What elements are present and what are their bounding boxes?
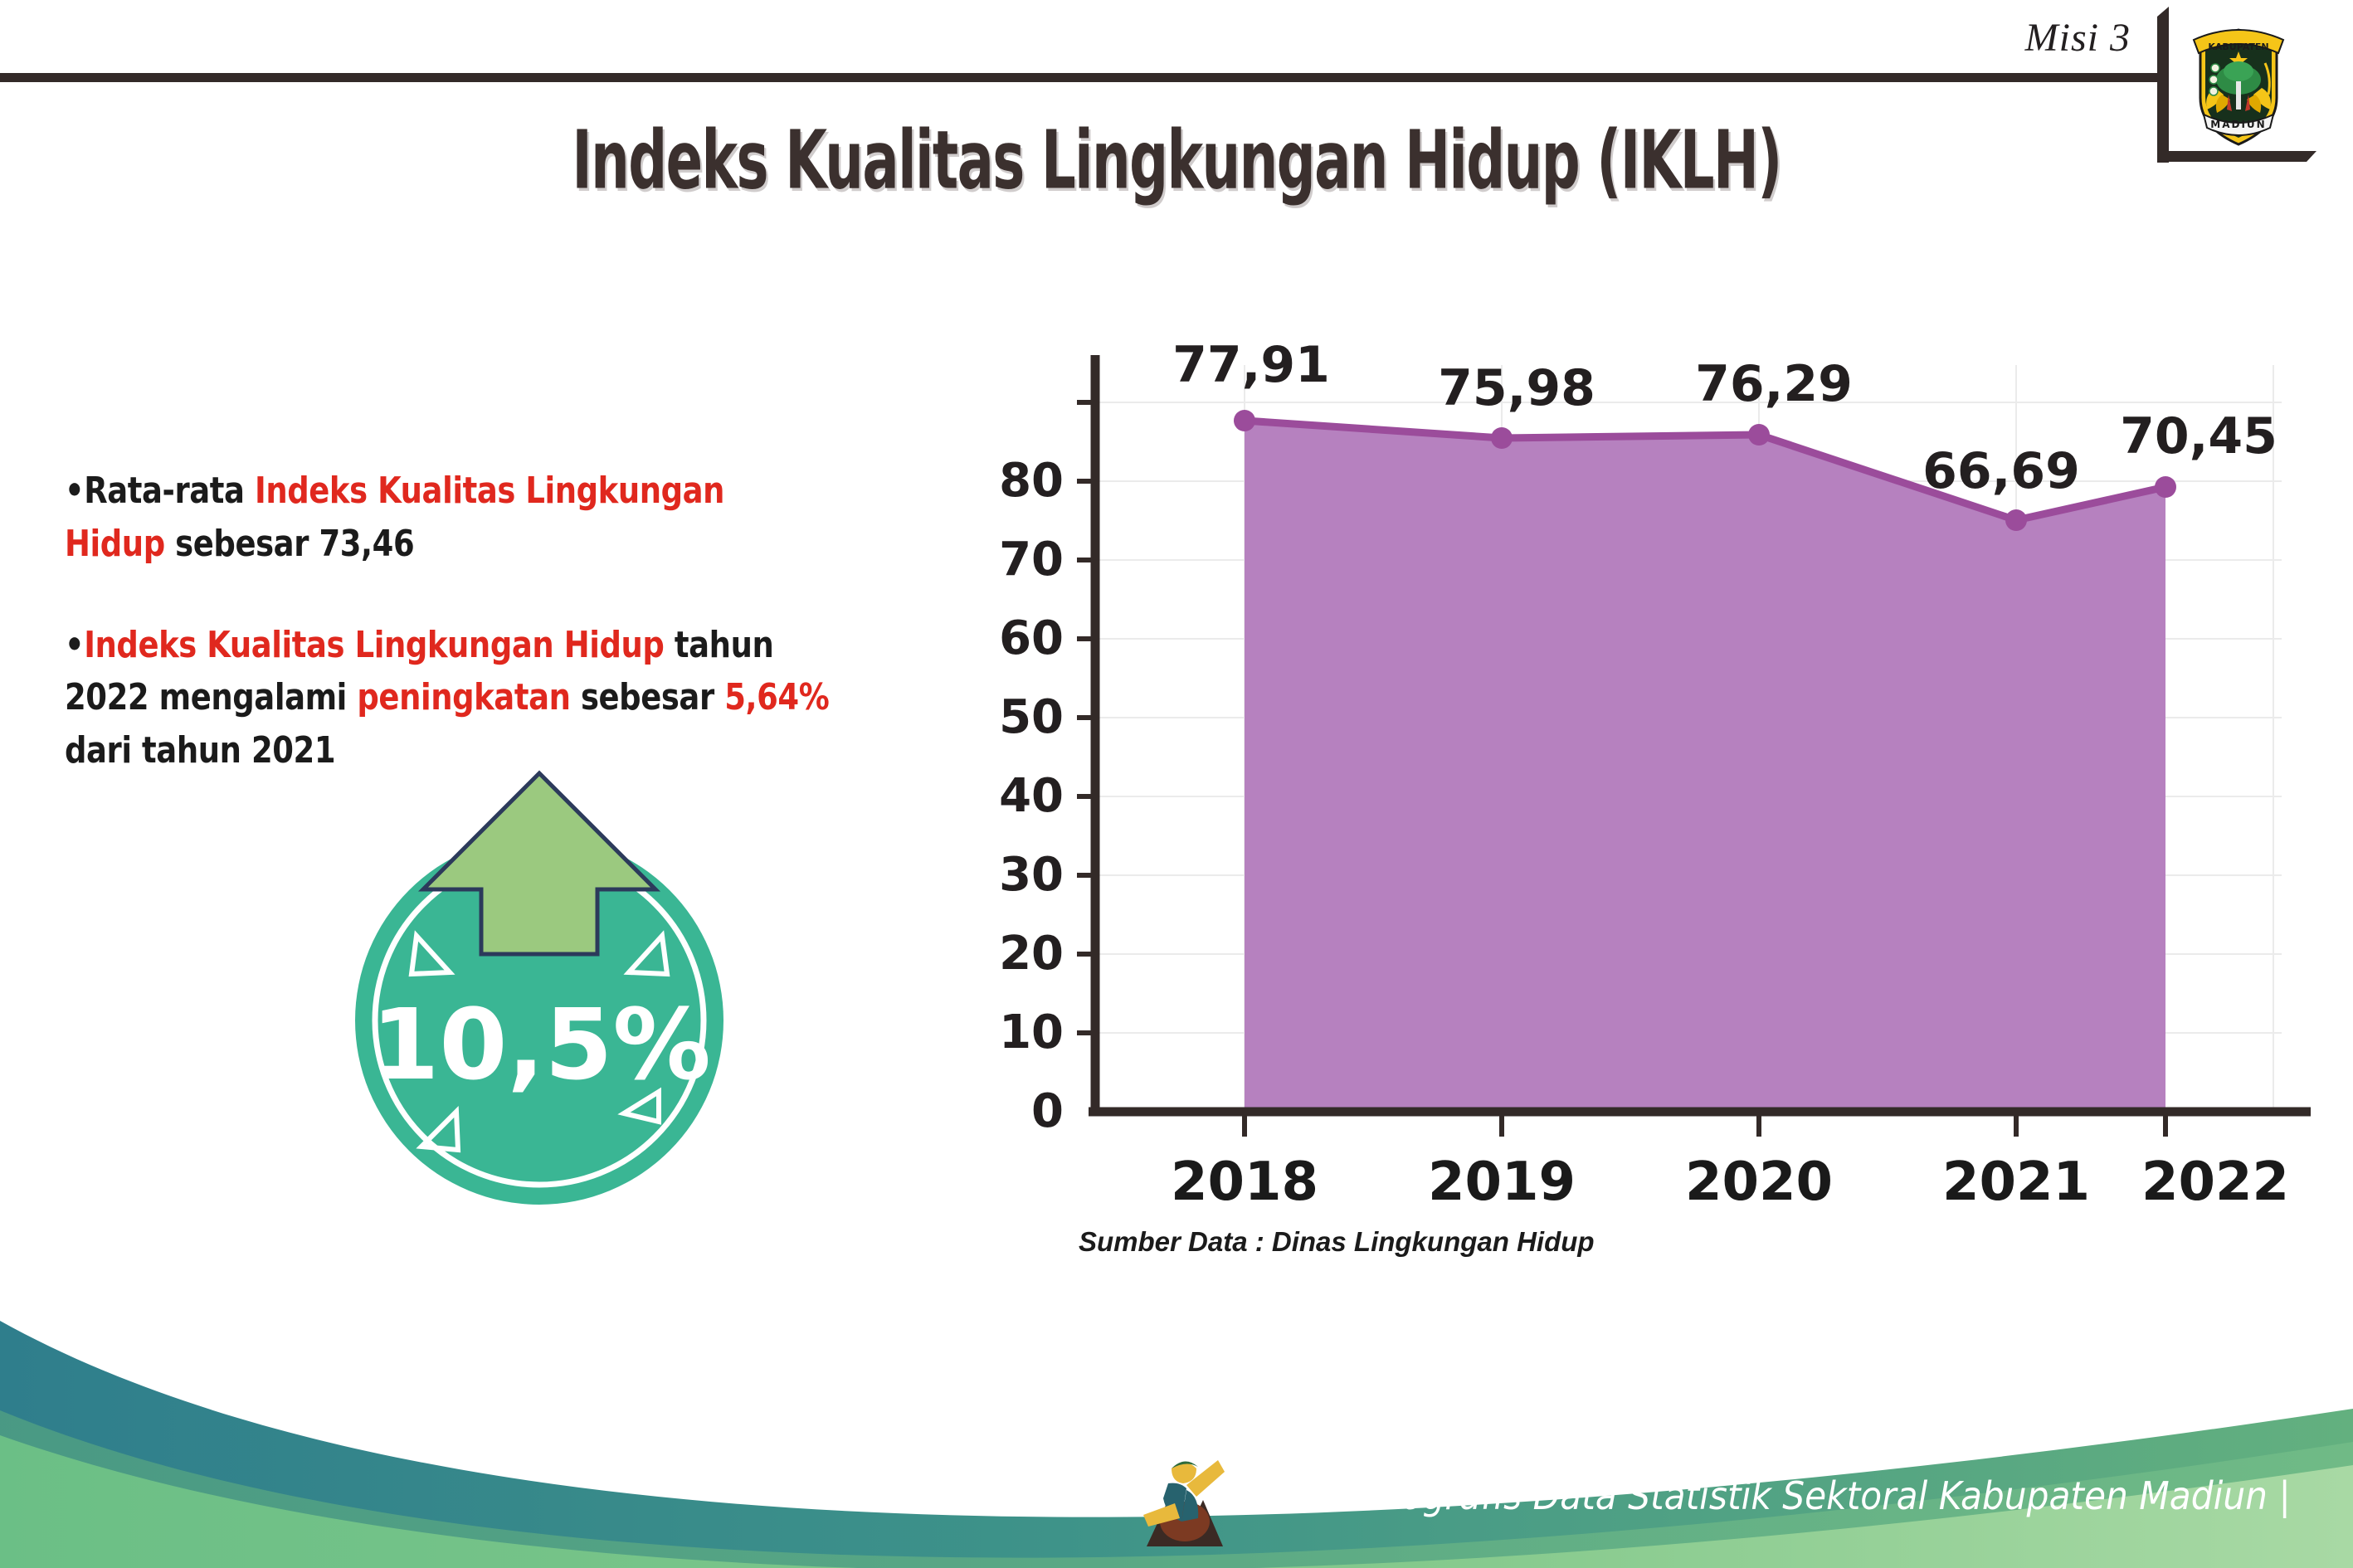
svg-text:2019: 2019: [1428, 1152, 1576, 1211]
source-note: Sumber Data : Dinas Lingkungan Hidup: [1079, 1226, 1595, 1258]
header-bracket-bottom: [2157, 151, 2307, 162]
kabupaten-madiun-emblem-icon: KABUPATEN MADIUN: [2185, 12, 2292, 151]
infographic-slide: Misi 3 KABUPATEN: [0, 0, 2353, 1568]
svg-text:60: 60: [999, 611, 1064, 665]
svg-text:2018: 2018: [1171, 1152, 1318, 1211]
emblem-bottom-label: MADIUN: [2210, 119, 2266, 130]
list-item: •Rata-rata Indeks Kualitas Lingkungan Hi…: [65, 465, 831, 571]
svg-text:40: 40: [999, 769, 1064, 823]
svg-text:77,91: 77,91: [1172, 336, 1330, 394]
svg-text:2022: 2022: [2141, 1152, 2289, 1211]
svg-text:20: 20: [999, 927, 1064, 981]
header-rule: [0, 73, 2161, 82]
bullet-marker: •: [65, 624, 84, 666]
bullet-marker: •: [65, 470, 84, 512]
svg-text:2020: 2020: [1685, 1152, 1833, 1211]
svg-text:75,98: 75,98: [1438, 359, 1595, 417]
bullet-text-highlight: Indeks Kualitas Lingkungan Hidup: [84, 624, 664, 666]
bullet-text-plain-2: sebesar: [570, 676, 724, 718]
svg-text:30: 30: [999, 848, 1064, 902]
x-axis-tick-labels: 2018 2019 2020 2021 2022: [1171, 1152, 2289, 1211]
svg-text:10: 10: [999, 1006, 1064, 1059]
media-infografis-logo-icon: [1138, 1435, 1231, 1551]
bullet-text-highlight-2: peningkatan: [357, 676, 570, 718]
bullet-text-highlight-3: 5,64%: [724, 676, 829, 718]
area-fill: [1245, 421, 2165, 1112]
svg-text:0: 0: [1031, 1084, 1064, 1138]
bullet-text-plain-2: sebesar 73,46: [165, 523, 415, 565]
bullet-text-plain-3: dari tahun 2021: [65, 729, 335, 772]
growth-badge: 10,5%: [324, 747, 755, 1211]
emblem-top-label: KABUPATEN: [2208, 41, 2268, 52]
svg-text:66,69: 66,69: [1922, 442, 2080, 500]
iklh-area-chart: 0 10 20 30 40 50 60 70 80 2018 2019 2020…: [987, 282, 2315, 1211]
misi-label: Misi 3: [2025, 15, 2131, 61]
svg-text:70,45: 70,45: [2120, 407, 2277, 465]
y-axis-tick-labels: 0 10 20 30 40 50 60 70 80: [999, 454, 1064, 1138]
bullet-text-plain: Rata-rata: [84, 470, 255, 512]
svg-text:2021: 2021: [1942, 1152, 2090, 1211]
badge-value-label: 10,5%: [371, 987, 710, 1102]
svg-text:50: 50: [999, 690, 1064, 744]
page-title: Indeks Kualitas Lingkungan Hidup (IKLH): [236, 114, 2118, 207]
footer-caption: Media Infografis Data Statistik Sektoral…: [1240, 1473, 2291, 1518]
svg-text:80: 80: [999, 454, 1064, 508]
svg-text:76,29: 76,29: [1695, 355, 1853, 413]
svg-text:70: 70: [999, 533, 1064, 587]
header-bracket-vertical: [2157, 17, 2169, 163]
